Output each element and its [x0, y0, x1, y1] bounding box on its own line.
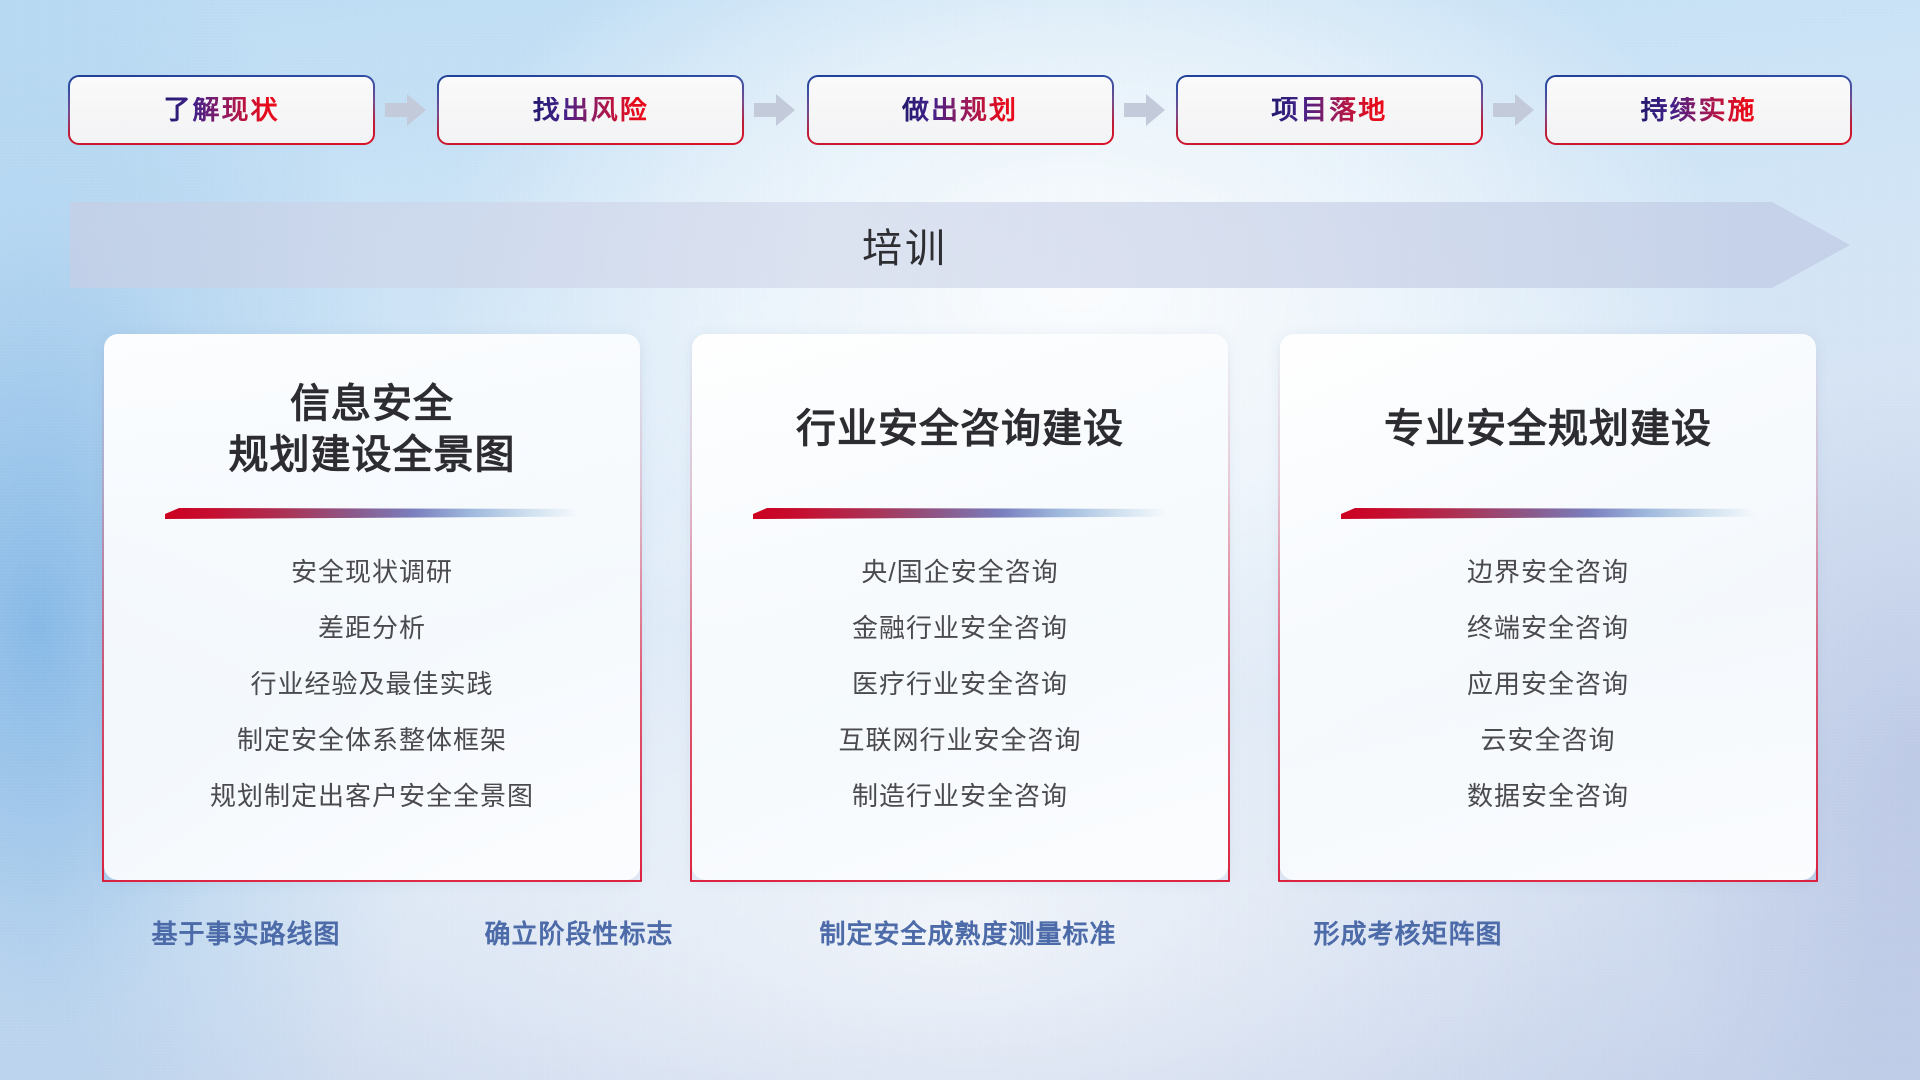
- banner-label: 培训: [70, 202, 1850, 288]
- footnote-label-3: 制定安全成熟度测量标准: [819, 912, 1116, 956]
- step-label-4: 项目落地: [1271, 97, 1387, 124]
- footnote-label-2: 确立阶段性标志: [484, 912, 673, 956]
- card-divider-rule: [165, 508, 579, 519]
- footnote-label-4: 形成考核矩阵图: [1313, 912, 1502, 956]
- card-divider-rule: [1341, 508, 1755, 519]
- process-step-flow: 了解现状 找出风险 做出规划 项目落地: [70, 76, 1850, 144]
- list-item: 应用安全咨询: [1310, 671, 1786, 727]
- list-item: 互联网行业安全咨询: [722, 727, 1198, 783]
- card-group: 信息安全 规划建设全景图 安全现状调研 差距分析 行业经验及最佳实践 制定安全体…: [104, 334, 1816, 880]
- step-label-3: 做出规划: [902, 97, 1018, 124]
- footnote-row: 基于事实路线图 确立阶段性标志 制定安全成熟度测量标准 形成考核矩阵图: [0, 912, 1920, 956]
- card-title-line: 专业安全规划建设: [1384, 404, 1712, 455]
- card-industry-consulting[interactable]: 行业安全咨询建设 央/国企安全咨询 金融行业安全咨询 医疗行业安全咨询 互联网行…: [692, 334, 1228, 880]
- step-label-1: 了解现状: [164, 97, 280, 124]
- step-box-1[interactable]: 了解现状: [70, 77, 373, 143]
- training-banner: 培训: [70, 202, 1850, 288]
- list-item: 终端安全咨询: [1310, 615, 1786, 671]
- arrow-right-icon: [754, 93, 796, 127]
- list-item: 规划制定出客户安全全景图: [134, 783, 610, 809]
- arrow-right-icon: [385, 93, 427, 127]
- list-item: 云安全咨询: [1310, 727, 1786, 783]
- step-box-3[interactable]: 做出规划: [809, 77, 1112, 143]
- list-item: 金融行业安全咨询: [722, 615, 1198, 671]
- card-panorama[interactable]: 信息安全 规划建设全景图 安全现状调研 差距分析 行业经验及最佳实践 制定安全体…: [104, 334, 640, 880]
- list-item: 央/国企安全咨询: [722, 559, 1198, 615]
- card-title-line: 行业安全咨询建设: [796, 404, 1124, 455]
- card-bottom-edge: [102, 880, 642, 882]
- card-bottom-edge: [690, 880, 1230, 882]
- arrow-right-icon: [1493, 93, 1535, 127]
- step-label-5: 持续实施: [1641, 97, 1757, 124]
- footnote-label-1: 基于事实路线图: [151, 912, 340, 956]
- list-item: 安全现状调研: [134, 559, 610, 615]
- card-item-list: 央/国企安全咨询 金融行业安全咨询 医疗行业安全咨询 互联网行业安全咨询 制造行…: [722, 559, 1198, 809]
- card-professional-planning[interactable]: 专业安全规划建设 边界安全咨询 终端安全咨询 应用安全咨询 云安全咨询 数据安全…: [1280, 334, 1816, 880]
- list-item: 制造行业安全咨询: [722, 783, 1198, 809]
- card-bottom-edge: [1278, 880, 1818, 882]
- step-box-4[interactable]: 项目落地: [1178, 77, 1481, 143]
- arrow-right-icon: [1124, 93, 1166, 127]
- list-item: 差距分析: [134, 615, 610, 671]
- step-box-5[interactable]: 持续实施: [1547, 77, 1850, 143]
- card-divider-rule: [753, 508, 1167, 519]
- card-item-list: 边界安全咨询 终端安全咨询 应用安全咨询 云安全咨询 数据安全咨询: [1310, 559, 1786, 809]
- card-title: 专业安全规划建设: [1310, 378, 1786, 482]
- card-title-line: 规划建设全景图: [229, 430, 516, 481]
- list-item: 医疗行业安全咨询: [722, 671, 1198, 727]
- card-item-list: 安全现状调研 差距分析 行业经验及最佳实践 制定安全体系整体框架 规划制定出客户…: [134, 559, 610, 809]
- card-title-line: 信息安全: [290, 379, 454, 430]
- list-item: 数据安全咨询: [1310, 783, 1786, 809]
- card-title: 信息安全 规划建设全景图: [134, 378, 610, 482]
- list-item: 行业经验及最佳实践: [134, 671, 610, 727]
- card-title: 行业安全咨询建设: [722, 378, 1198, 482]
- list-item: 边界安全咨询: [1310, 559, 1786, 615]
- step-box-2[interactable]: 找出风险: [439, 77, 742, 143]
- slide-canvas: 了解现状 找出风险 做出规划 项目落地: [0, 0, 1920, 1080]
- list-item: 制定安全体系整体框架: [134, 727, 610, 783]
- step-label-2: 找出风险: [533, 97, 649, 124]
